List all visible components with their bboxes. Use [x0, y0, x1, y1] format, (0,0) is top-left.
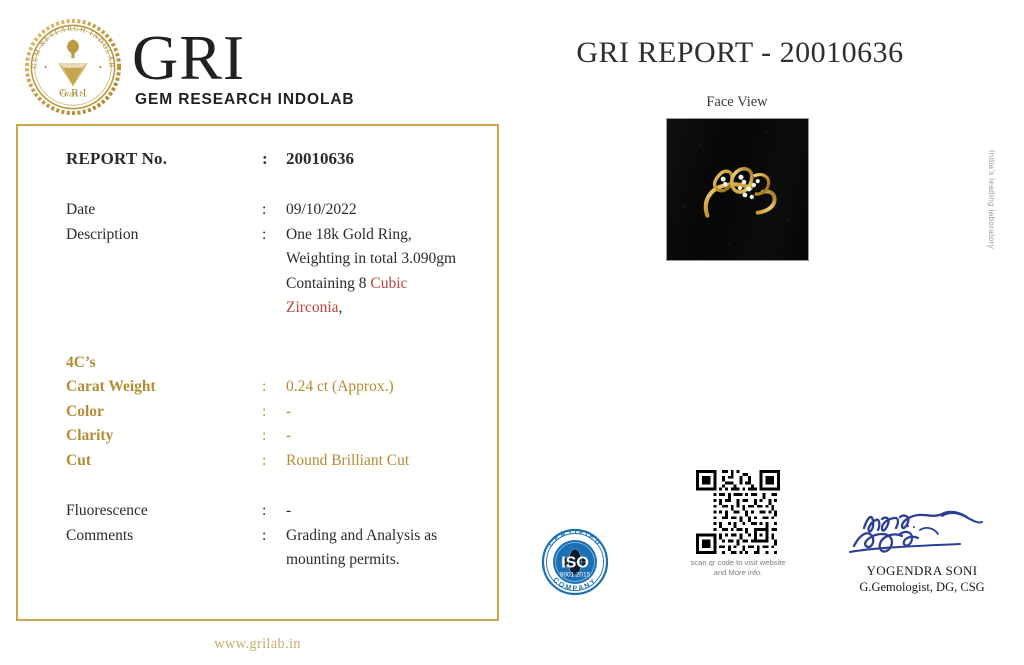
- colon-separator: :: [262, 424, 286, 449]
- brand-initials: GRI: [132, 29, 355, 87]
- description-line-4: Zirconia,: [286, 296, 486, 321]
- description-label: Description: [66, 223, 262, 248]
- description-line-3-text: Containing 8: [286, 275, 370, 292]
- description-stone-type-part2: Zirconia: [286, 299, 339, 316]
- row-report-no: REPORT No. : 20010636: [66, 146, 486, 172]
- side-note-text: India's leading laboratory: [987, 150, 996, 280]
- colon-separator: :: [262, 449, 286, 474]
- date-value: 09/10/2022: [286, 198, 486, 223]
- clarity-label: Clarity: [66, 424, 262, 449]
- comments-value: Grading and Analysis as mounting permits…: [286, 524, 486, 573]
- carat-weight-label: Carat Weight: [66, 375, 262, 400]
- clarity-value: -: [286, 424, 486, 449]
- report-details-rows: REPORT No. : 20010636 Date : 09/10/2022 …: [66, 146, 486, 573]
- cut-label: Cut: [66, 449, 262, 474]
- fluorescence-value: -: [286, 499, 486, 524]
- comments-line-1: Grading and Analysis as: [286, 524, 486, 549]
- description-line-2: Weighting in total 3.090gm: [286, 247, 486, 272]
- brand-logo: GEM RESEARCH INDOLAB INDIA G.R.I: [24, 18, 355, 116]
- row-four-cs-heading: 4C’s: [66, 351, 486, 376]
- report-no-value: 20010636: [286, 146, 486, 172]
- iso-certified-badge: ISO 9001:2015 CERTIFIED COMPANY: [538, 525, 612, 599]
- iso-main-text: ISO: [561, 555, 589, 572]
- row-clarity: Clarity : -: [66, 424, 486, 449]
- color-value: -: [286, 400, 486, 425]
- color-label: Color: [66, 400, 262, 425]
- colon-separator: :: [262, 198, 286, 223]
- colon-separator: :: [262, 524, 286, 549]
- qr-code[interactable]: [696, 470, 780, 554]
- date-label: Date: [66, 198, 262, 223]
- face-view-section: Face View: [639, 94, 835, 261]
- row-color: Color : -: [66, 400, 486, 425]
- colon-separator: :: [262, 375, 286, 400]
- brand-subtitle-rest: EM RESEARCH INDOLAB: [148, 91, 355, 108]
- page-header: GEM RESEARCH INDOLAB INDIA G.R.I: [0, 0, 1024, 118]
- fluorescence-label: Fluorescence: [66, 499, 262, 524]
- brand-subtitle-initial: G: [135, 91, 148, 108]
- ring-photo: [666, 118, 809, 261]
- row-date: Date : 09/10/2022: [66, 198, 486, 223]
- handwritten-signature: [842, 500, 1002, 562]
- carat-weight-value: 0.24 ct (Approx.): [286, 375, 486, 400]
- colon-separator: :: [262, 400, 286, 425]
- qr-section: scan qr code to visit website and More i…: [676, 470, 800, 578]
- colon-separator: :: [262, 223, 286, 248]
- comments-label: Comments: [66, 524, 262, 549]
- description-line-1: One 18k Gold Ring,: [286, 223, 486, 248]
- description-line-4-suffix: ,: [339, 299, 343, 316]
- report-details-box: REPORT No. : 20010636 Date : 09/10/2022 …: [16, 124, 499, 621]
- four-cs-label: 4C’s: [66, 351, 262, 376]
- signatory-name: YOGENDRA SONI: [832, 563, 1012, 579]
- svg-text:G.R.I: G.R.I: [59, 87, 87, 99]
- row-carat-weight: Carat Weight : 0.24 ct (Approx.): [66, 375, 486, 400]
- description-line-3: Containing 8 Cubic: [286, 272, 486, 297]
- description-value: One 18k Gold Ring, Weighting in total 3.…: [286, 223, 486, 321]
- qr-caption-line-1: scan qr code to visit website: [676, 558, 800, 568]
- section-spacer: [66, 473, 486, 499]
- colon-separator: :: [262, 146, 286, 172]
- signature-section: YOGENDRA SONI G.Gemologist, DG, CSG: [832, 500, 1012, 595]
- description-stone-type-part1: Cubic: [370, 275, 407, 292]
- section-spacer: [66, 321, 486, 351]
- row-description: Description : One 18k Gold Ring, Weighti…: [66, 223, 486, 321]
- gri-seal-icon: GEM RESEARCH INDOLAB INDIA G.R.I: [24, 18, 122, 116]
- iso-standard-text: 9001:2015: [560, 572, 591, 579]
- signatory-role: G.Gemologist, DG, CSG: [832, 580, 1012, 595]
- row-comments: Comments : Grading and Analysis as mount…: [66, 524, 486, 573]
- row-fluorescence: Fluorescence : -: [66, 499, 486, 524]
- brand-wordmark: GRI GEM RESEARCH INDOLAB: [132, 29, 355, 109]
- colon-separator: :: [262, 499, 286, 524]
- brand-subtitle: GEM RESEARCH INDOLAB: [135, 91, 355, 109]
- comments-line-2: mounting permits.: [286, 548, 486, 573]
- qr-caption: scan qr code to visit website and More i…: [676, 558, 800, 578]
- page-title: GRI REPORT - 20010636: [520, 36, 960, 70]
- ring-illustration: [667, 119, 808, 260]
- report-no-label: REPORT No.: [66, 146, 262, 172]
- qr-caption-line-2: and More info.: [676, 568, 800, 578]
- face-view-label: Face View: [639, 94, 835, 111]
- website-footer[interactable]: www.grilab.in: [16, 636, 499, 653]
- cut-value: Round Brilliant Cut: [286, 449, 486, 474]
- row-cut: Cut : Round Brilliant Cut: [66, 449, 486, 474]
